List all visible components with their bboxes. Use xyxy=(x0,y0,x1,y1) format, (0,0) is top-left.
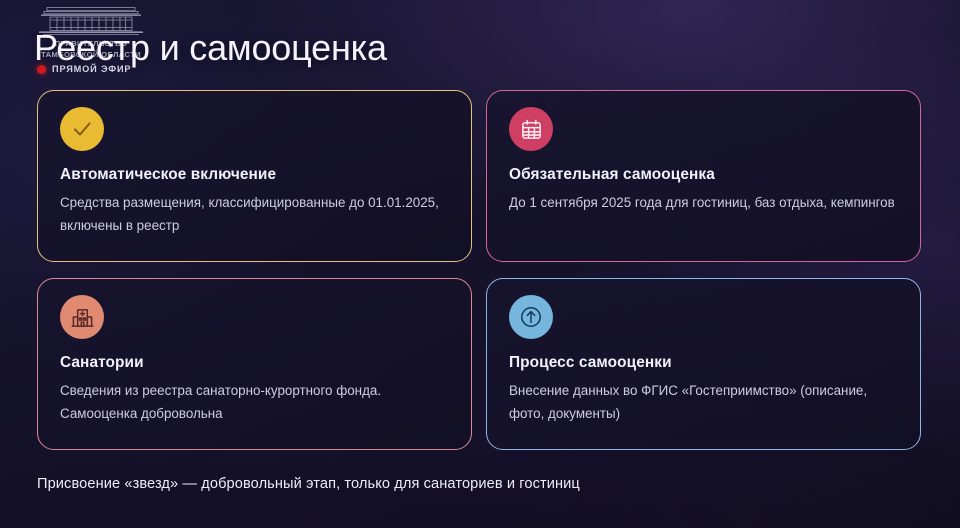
card-title: Автоматическое включение xyxy=(60,165,449,184)
card-description: Внесение данных во ФГИС «Гостеприимство»… xyxy=(509,379,898,425)
card-title: Процесс самооценки xyxy=(509,353,898,372)
card-title: Обязательная самооценка xyxy=(509,165,898,184)
card-title: Санатории xyxy=(60,353,449,372)
card-sanatoriums: Санатории Сведения из реестра санаторно-… xyxy=(37,278,472,450)
slide-root: ПРАВИТЕЛЬСТВО ТАМБОВСКОЙ ОБЛАСТИ ПРЯМОЙ … xyxy=(0,0,960,528)
card-description: До 1 сентября 2025 года для гостиниц, ба… xyxy=(509,191,898,214)
hospital-building-glyph xyxy=(71,306,94,329)
calendar-icon xyxy=(509,107,553,151)
card-description: Сведения из реестра санаторно-курортного… xyxy=(60,379,449,425)
card-description: Средства размещения, классифицированные … xyxy=(60,191,449,237)
checkmark-glyph xyxy=(70,117,94,141)
upload-arrow-circle-glyph xyxy=(519,305,543,329)
footnote: Присвоение «звезд» — добровольный этап, … xyxy=(37,476,580,492)
calendar-glyph xyxy=(520,118,543,141)
page-title: Реестр и самооценка xyxy=(34,26,387,70)
checkmark-icon xyxy=(60,107,104,151)
card-mandatory-self-assessment: Обязательная самооценка До 1 сентября 20… xyxy=(486,90,921,262)
upload-arrow-circle-icon xyxy=(509,295,553,339)
hospital-building-icon xyxy=(60,295,104,339)
cards-grid: Автоматическое включение Средства размещ… xyxy=(37,90,921,450)
card-automatic-inclusion: Автоматическое включение Средства размещ… xyxy=(37,90,472,262)
card-self-assessment-process: Процесс самооценки Внесение данных во ФГ… xyxy=(486,278,921,450)
